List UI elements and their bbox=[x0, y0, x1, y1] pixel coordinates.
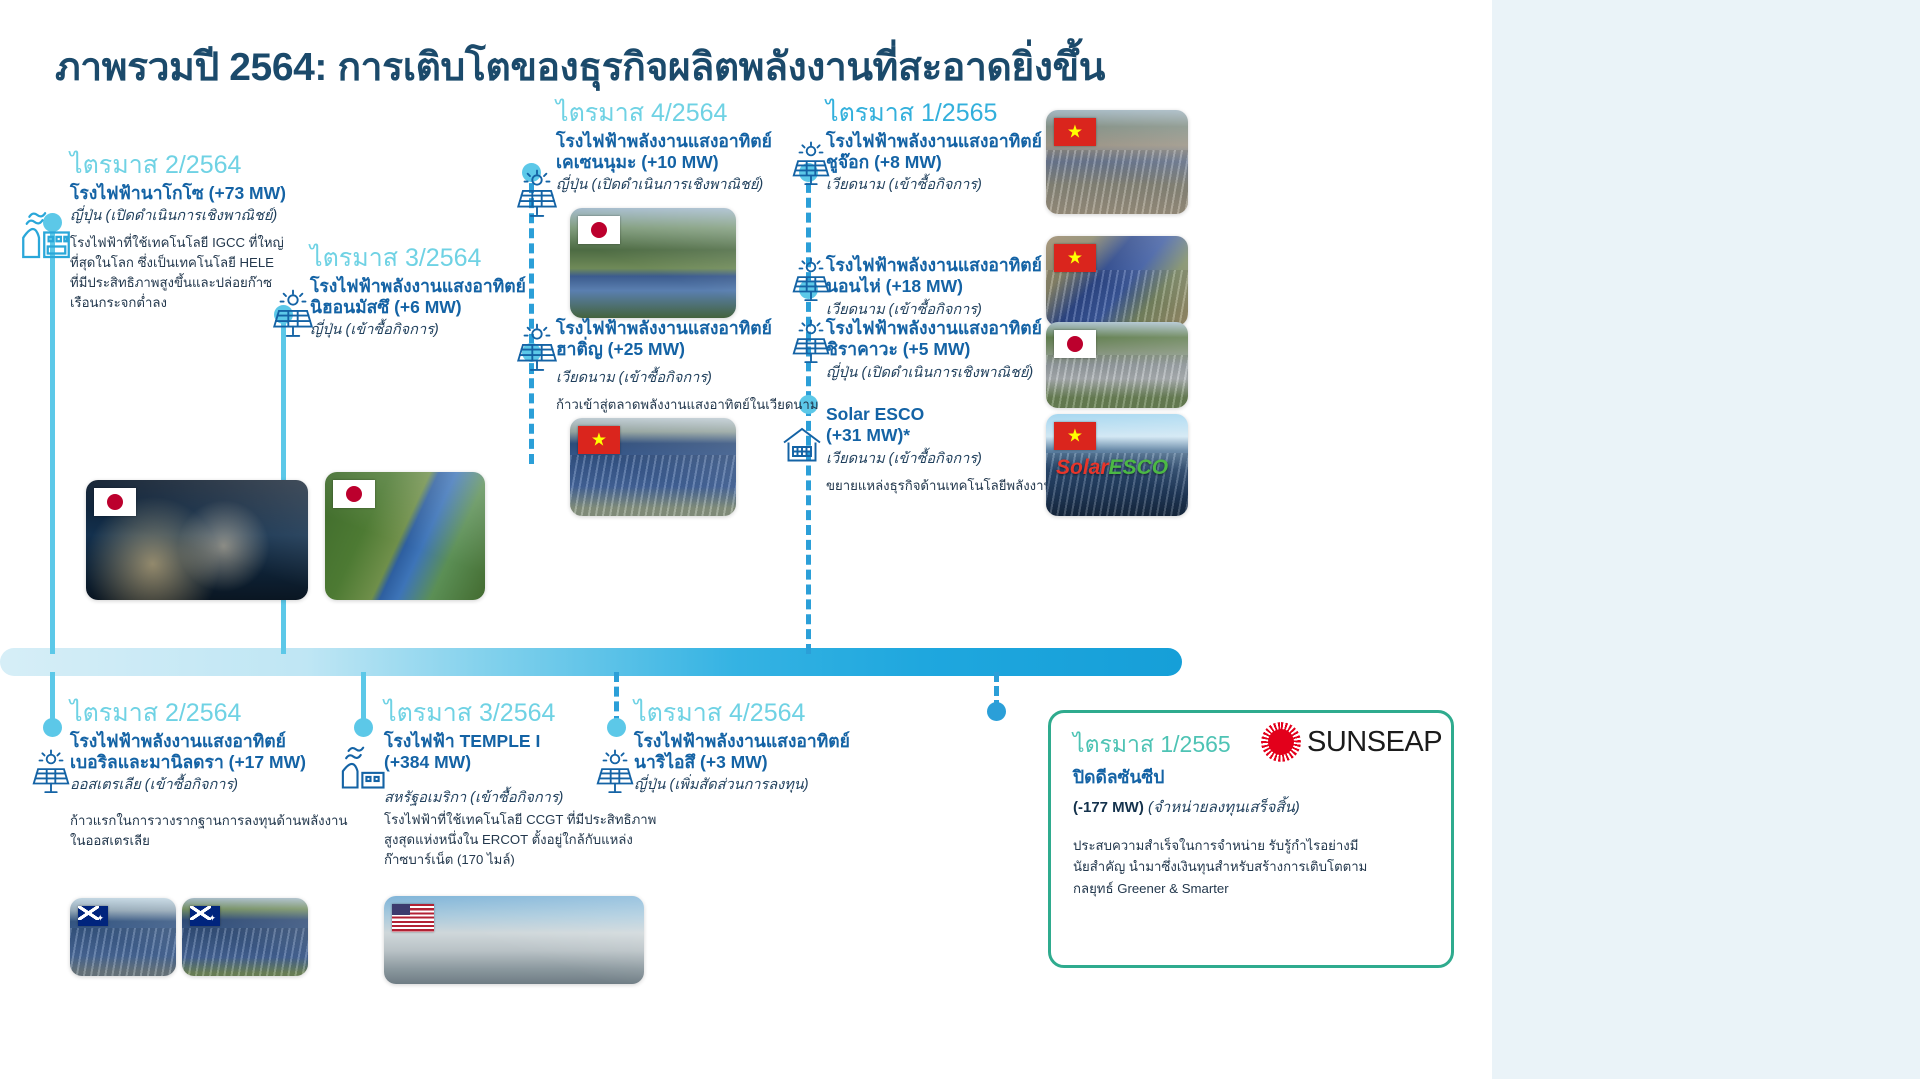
flag-vn-icon bbox=[1054, 244, 1096, 272]
photo-kesennuma bbox=[570, 208, 736, 318]
timeline-dot-sunseap bbox=[987, 702, 1006, 721]
photo-solaresco: SolarESCO bbox=[1046, 414, 1188, 516]
sunseap-sun-icon bbox=[1261, 722, 1301, 762]
event-nonhai[interactable]: โรงไฟฟ้าพลังงานแสงอาทิตย์ นอนไห่ (+18 MW… bbox=[826, 255, 1046, 320]
event-hatinh[interactable]: โรงไฟฟ้าพลังงานแสงอาทิตย์ ฮาติ่ญ (+25 MW… bbox=[556, 318, 826, 415]
solar-esco-logo: SolarESCO bbox=[1056, 456, 1168, 480]
event-name: โรงไฟฟ้าพลังงานแสงอาทิตย์ ชิราคาวะ (+5 M… bbox=[826, 318, 1046, 361]
sunseap-deal-label: ปิดดีลซันซีป bbox=[1073, 763, 1164, 791]
event-desc: โรงไฟฟ้าที่ใช้เทคโนโลยี CCGT ที่มีประสิท… bbox=[384, 810, 664, 870]
event-quarter: ไตรมาส 2/2564 bbox=[70, 152, 330, 179]
photo-hatinh bbox=[570, 418, 736, 516]
event-solaresco[interactable]: Solar ESCO (+31 MW)* เวียดนาม (เข้าซื้อก… bbox=[826, 404, 1066, 496]
sunseap-mw-value: (-177 MW) bbox=[1073, 799, 1144, 816]
sunseap-logo: SUNSEAP bbox=[1261, 721, 1442, 763]
photo-shirakawa bbox=[1046, 322, 1188, 408]
event-chuchok[interactable]: ไตรมาส 1/2565 โรงไฟฟ้าพลังงานแสงอาทิตย์ … bbox=[826, 100, 1046, 195]
flag-jp-icon bbox=[94, 488, 136, 516]
flag-jp-icon bbox=[578, 216, 620, 244]
event-kesennuma[interactable]: ไตรมาส 4/2564 โรงไฟฟ้าพลังงานแสงอาทิตย์ … bbox=[556, 100, 816, 195]
flag-jp-icon bbox=[1054, 330, 1096, 358]
event-sub: เวียดนาม (เข้าซื้อกิจการ) bbox=[826, 176, 1046, 195]
event-naraiso[interactable]: ไตรมาส 4/2564 โรงไฟฟ้าพลังงานแสงอาทิตย์ … bbox=[634, 700, 894, 795]
sunseap-mw: (-177 MW) (จำหน่ายลงทุนเสร็จสิ้น) bbox=[1073, 795, 1300, 819]
photo-beryl bbox=[70, 898, 176, 976]
sunseap-quarter: ไตรมาส 1/2565 bbox=[1073, 727, 1231, 763]
event-quarter: ไตรมาส 3/2564 bbox=[384, 700, 664, 727]
event-sub: ญี่ปุ่น (เพิ่มสัดส่วนการลงทุน) bbox=[634, 776, 894, 795]
event-shirakawa[interactable]: โรงไฟฟ้าพลังงานแสงอาทิตย์ ชิราคาวะ (+5 M… bbox=[826, 318, 1046, 383]
timeline-bar bbox=[0, 648, 1182, 676]
event-name: Solar ESCO (+31 MW)* bbox=[826, 404, 1066, 447]
event-quarter: ไตรมาส 1/2565 bbox=[826, 100, 1046, 127]
rooftop-solar-icon bbox=[778, 420, 826, 468]
power-portfolio-panel: BANPU POWER bbox=[1492, 0, 1920, 1079]
solar-panel-icon bbox=[28, 748, 74, 796]
event-desc: ก้าวเข้าสู่ตลาดพลังงานแสงอาทิตย์ในเวียดน… bbox=[556, 395, 826, 415]
event-name: โรงไฟฟ้าพลังงานแสงอาทิตย์ เคเซนนุมะ (+10… bbox=[556, 131, 816, 174]
timeline-dot-beryl bbox=[43, 718, 62, 737]
flag-au-icon bbox=[78, 906, 108, 926]
timeline-stem-nakoso bbox=[50, 218, 55, 654]
solar-panel-icon bbox=[512, 168, 562, 220]
flag-us-icon bbox=[392, 904, 434, 932]
sunseap-mw-note: (จำหน่ายลงทุนเสร็จสิ้น) bbox=[1148, 799, 1300, 816]
flag-vn-icon bbox=[1054, 118, 1096, 146]
esco-word-solar: Solar bbox=[1056, 456, 1109, 479]
photo-temple1 bbox=[384, 896, 644, 984]
event-name: โรงไฟฟ้าพลังงานแสงอาทิตย์ ชูจ๊อก (+8 MW) bbox=[826, 131, 1046, 174]
event-desc: ขยายแหล่งธุรกิจด้านเทคโนโลยีพลังงาน bbox=[826, 476, 1066, 496]
event-name: โรงไฟฟ้าพลังงานแสงอาทิตย์ นิฮอนมัสซึ (+6… bbox=[310, 276, 560, 319]
photo-manildra bbox=[182, 898, 308, 976]
sunseap-deal-card[interactable]: ไตรมาส 1/2565 SUNSEAP ปิดดีลซันซีป (-177… bbox=[1048, 710, 1454, 968]
event-sub: เวียดนาม (เข้าซื้อกิจการ) bbox=[826, 301, 1046, 320]
page-title: ภาพรวมปี 2564: การเติบโตของธุรกิจผลิตพลั… bbox=[55, 36, 1105, 98]
flag-jp-icon bbox=[333, 480, 375, 508]
photo-chuchok bbox=[1046, 110, 1188, 214]
solar-panel-icon bbox=[512, 322, 562, 374]
esco-word-esco: ESCO bbox=[1109, 456, 1169, 479]
event-name: โรงไฟฟ้านาโกโซ (+73 MW) bbox=[70, 183, 330, 204]
photo-nonhai bbox=[1046, 236, 1188, 326]
event-desc: ก้าวแรกในการวางรากฐานการลงทุนด้านพลังงาน… bbox=[70, 811, 390, 851]
power-plant-icon bbox=[18, 208, 74, 264]
event-quarter: ไตรมาส 4/2564 bbox=[634, 700, 894, 727]
event-sub: ญี่ปุ่น (เปิดดำเนินการเชิงพาณิชย์) bbox=[556, 176, 816, 195]
event-quarter: ไตรมาส 2/2564 bbox=[70, 700, 390, 727]
event-quarter: ไตรมาส 4/2564 bbox=[556, 100, 816, 127]
solar-panel-icon bbox=[592, 748, 638, 796]
flag-vn-icon bbox=[578, 426, 620, 454]
flag-vn-icon bbox=[1054, 422, 1096, 450]
power-plant-icon bbox=[338, 742, 390, 794]
event-sub: เวียดนาม (เข้าซื้อกิจการ) bbox=[556, 369, 826, 388]
sunseap-body: ประสบความสำเร็จในการจำหน่าย รับรู้กำไรอย… bbox=[1073, 835, 1435, 899]
event-quarter: ไตรมาส 3/2564 bbox=[310, 245, 560, 272]
photo-nihonmatsu bbox=[325, 472, 485, 600]
infographic-canvas: ภาพรวมปี 2564: การเติบโตของธุรกิจผลิตพลั… bbox=[0, 0, 1920, 1079]
sunseap-logo-text: SUNSEAP bbox=[1307, 726, 1442, 759]
event-name: โรงไฟฟ้าพลังงานแสงอาทิตย์ ฮาติ่ญ (+25 MW… bbox=[556, 318, 826, 361]
event-sub: ญี่ปุ่น (เปิดดำเนินการเชิงพาณิชย์) bbox=[70, 207, 330, 226]
event-name: โรงไฟฟ้าพลังงานแสงอาทิตย์ นาริไอสึ (+3 M… bbox=[634, 731, 894, 774]
timeline-panel: ภาพรวมปี 2564: การเติบโตของธุรกิจผลิตพลั… bbox=[0, 0, 1492, 1079]
event-sub: เวียดนาม (เข้าซื้อกิจการ) bbox=[826, 450, 1066, 469]
event-name: โรงไฟฟ้าพลังงานแสงอาทิตย์ นอนไห่ (+18 MW… bbox=[826, 255, 1046, 298]
photo-nakoso bbox=[86, 480, 308, 600]
event-sub: ญี่ปุ่น (เปิดดำเนินการเชิงพาณิชย์) bbox=[826, 364, 1046, 383]
flag-au-icon bbox=[190, 906, 220, 926]
